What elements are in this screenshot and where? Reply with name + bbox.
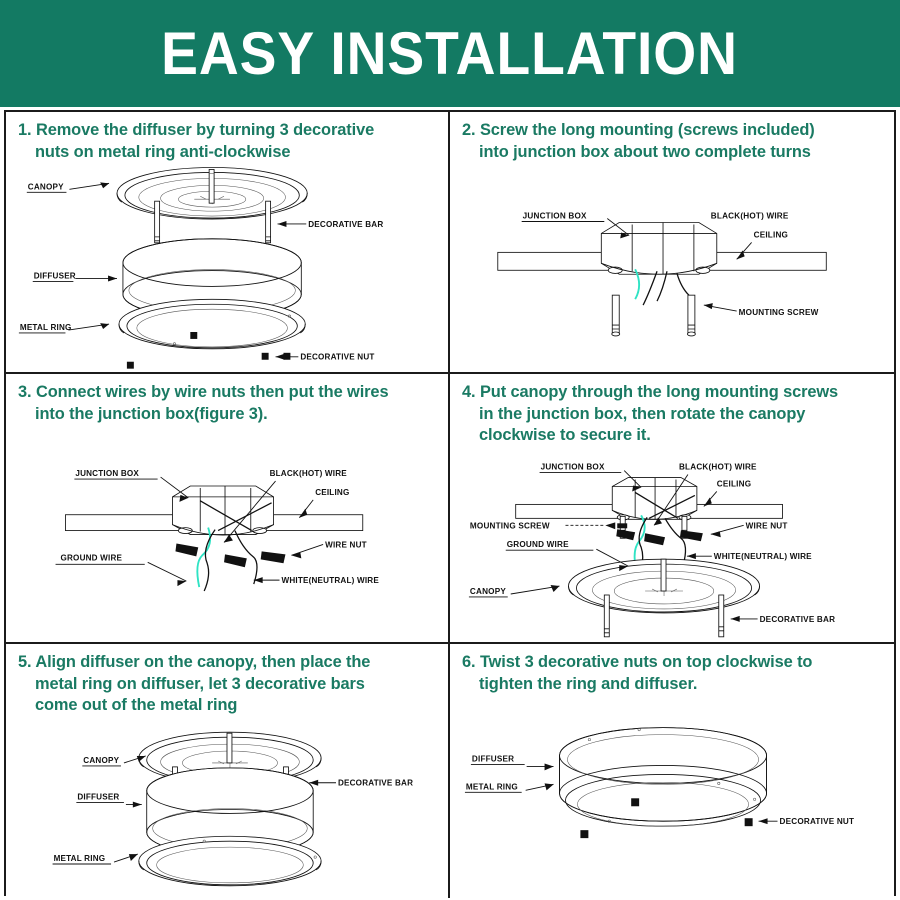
label-canopy: CANOPY — [28, 182, 64, 191]
step-panel-3: 3. Connect wires by wire nuts then put t… — [6, 374, 450, 644]
metal-ring-label-group: METAL RING — [53, 854, 138, 864]
wire-nut-label-group: WIRE NUT — [711, 521, 788, 537]
label-decorative-bar: DECORATIVE BAR — [760, 615, 836, 624]
white-neutral-wire-label-group: WHITE(NEUTRAL) WIRE — [687, 552, 812, 561]
label-diffuser: DIFFUSER — [77, 793, 119, 802]
label-diffuser: DIFFUSER — [472, 754, 514, 763]
wire-nut-drawing — [175, 543, 285, 567]
label-junction-box: JUNCTION BOX — [541, 463, 605, 472]
label-black-hot-wire: BLACK(HOT) WIRE — [270, 469, 348, 478]
label-wire-nut: WIRE NUT — [746, 521, 788, 530]
label-metal-ring: METAL RING — [54, 854, 106, 863]
label-ceiling: CEILING — [717, 479, 751, 488]
junction-box-label-group: JUNCTION BOX — [74, 469, 188, 502]
step-3-figure: JUNCTION BOX BLACK(HOT) WIRE CEILING WI — [6, 374, 448, 642]
white-neutral-wire-label-group: WHITE(NEUTRAL) WIRE — [254, 576, 380, 585]
label-diffuser: DIFFUSER — [34, 271, 76, 280]
mounting-screw-label-group: MOUNTING SCREW — [704, 303, 819, 317]
label-metal-ring: METAL RING — [20, 323, 72, 332]
label-decorative-nut: DECORATIVE NUT — [300, 353, 374, 362]
mounting-screw-drawing — [612, 295, 696, 336]
label-junction-box: JUNCTION BOX — [75, 469, 139, 478]
decorative-bar-label-group: DECORATIVE BAR — [278, 220, 384, 229]
decorative-nut-label-group: DECORATIVE NUT — [759, 817, 855, 826]
label-mounting-screw: MOUNTING SCREW — [470, 521, 550, 530]
metal-ring-label-group: METAL RING — [19, 323, 109, 333]
ground-wire-label-group: GROUND WIRE — [56, 553, 187, 586]
decorative-bar-label-group: DECORATIVE BAR — [731, 615, 835, 624]
step-2-figure: JUNCTION BOX BLACK(HOT) WIRE CEILING MOU… — [450, 112, 894, 373]
label-decorative-bar: DECORATIVE BAR — [308, 220, 383, 229]
page-title: EASY INSTALLATION — [162, 24, 739, 84]
canopy-label-group: CANOPY — [82, 756, 145, 766]
step-panel-1: 1. Remove the diffuser by turning 3 deco… — [6, 112, 450, 374]
label-canopy: CANOPY — [470, 587, 506, 596]
label-white-neutral-wire: WHITE(NEUTRAL) WIRE — [281, 576, 379, 585]
canopy-label-group: CANOPY — [27, 182, 109, 192]
steps-grid: 1. Remove the diffuser by turning 3 deco… — [4, 110, 896, 896]
label-metal-ring: METAL RING — [466, 782, 518, 791]
step-5-figure: CANOPY DECORATIVE BAR DIFFUSER — [6, 644, 448, 896]
label-junction-box: JUNCTION BOX — [523, 212, 587, 221]
label-black-hot-wire: BLACK(HOT) WIRE — [711, 212, 789, 221]
diffuser-label-group: DIFFUSER — [76, 793, 141, 808]
label-ground-wire: GROUND WIRE — [507, 540, 569, 549]
step-6-figure: DIFFUSER METAL RING DECORATIVE NUT — [450, 644, 894, 897]
step-panel-2: 2. Screw the long mounting (screws inclu… — [450, 112, 894, 374]
diffuser-label-group: DIFFUSER — [471, 754, 554, 770]
label-black-hot-wire: BLACK(HOT) WIRE — [679, 463, 757, 472]
step-4-figure: JUNCTION BOX BLACK(HOT) WIRE CEILING MO — [450, 374, 894, 643]
label-wire-nut: WIRE NUT — [325, 540, 367, 549]
header-banner: EASY INSTALLATION — [0, 0, 900, 107]
junction-box-drawing — [601, 222, 716, 274]
mounting-screw-label-group: MOUNTING SCREW — [470, 521, 615, 530]
label-decorative-bar: DECORATIVE BAR — [338, 779, 413, 788]
label-mounting-screw: MOUNTING SCREW — [739, 308, 819, 317]
step-panel-6: 6. Twist 3 decorative nuts on top clockw… — [450, 644, 894, 898]
black-hot-wire-label-group: BLACK(HOT) WIRE — [711, 212, 789, 221]
wire-nut-drawing — [616, 529, 703, 545]
ceiling-label-group: CEILING — [704, 479, 751, 506]
step-panel-5: 5. Align diffuser on the canopy, then pl… — [6, 644, 450, 898]
label-decorative-nut: DECORATIVE NUT — [780, 817, 855, 826]
step-panel-4: 4. Put canopy through the long mounting … — [450, 374, 894, 644]
assembled-fixture-drawing — [560, 728, 767, 827]
installation-instruction-sheet: EASY INSTALLATION 1. Remove the diffuser… — [0, 0, 900, 900]
metal-ring-drawing — [119, 299, 305, 349]
ceiling-label-group: CEILING — [299, 488, 349, 518]
label-white-neutral-wire: WHITE(NEUTRAL) WIRE — [714, 552, 812, 561]
canopy-label-group: CANOPY — [469, 585, 560, 597]
label-canopy: CANOPY — [83, 756, 119, 765]
metal-ring-drawing — [139, 836, 321, 886]
label-ground-wire: GROUND WIRE — [61, 553, 123, 562]
label-ceiling: CEILING — [315, 488, 349, 497]
metal-ring-label-group: METAL RING — [465, 782, 554, 792]
diffuser-label-group: DIFFUSER — [33, 271, 117, 281]
step-1-figure: CANOPY DECORATIVE BAR DIFFUSER — [6, 112, 448, 372]
wire-nut-label-group: WIRE NUT — [291, 540, 366, 558]
label-ceiling: CEILING — [754, 230, 788, 239]
decorative-nut-label-group: DECORATIVE NUT — [262, 353, 375, 362]
decorative-bar-label-group: DECORATIVE BAR — [309, 779, 413, 788]
junction-box-drawing — [612, 478, 697, 520]
